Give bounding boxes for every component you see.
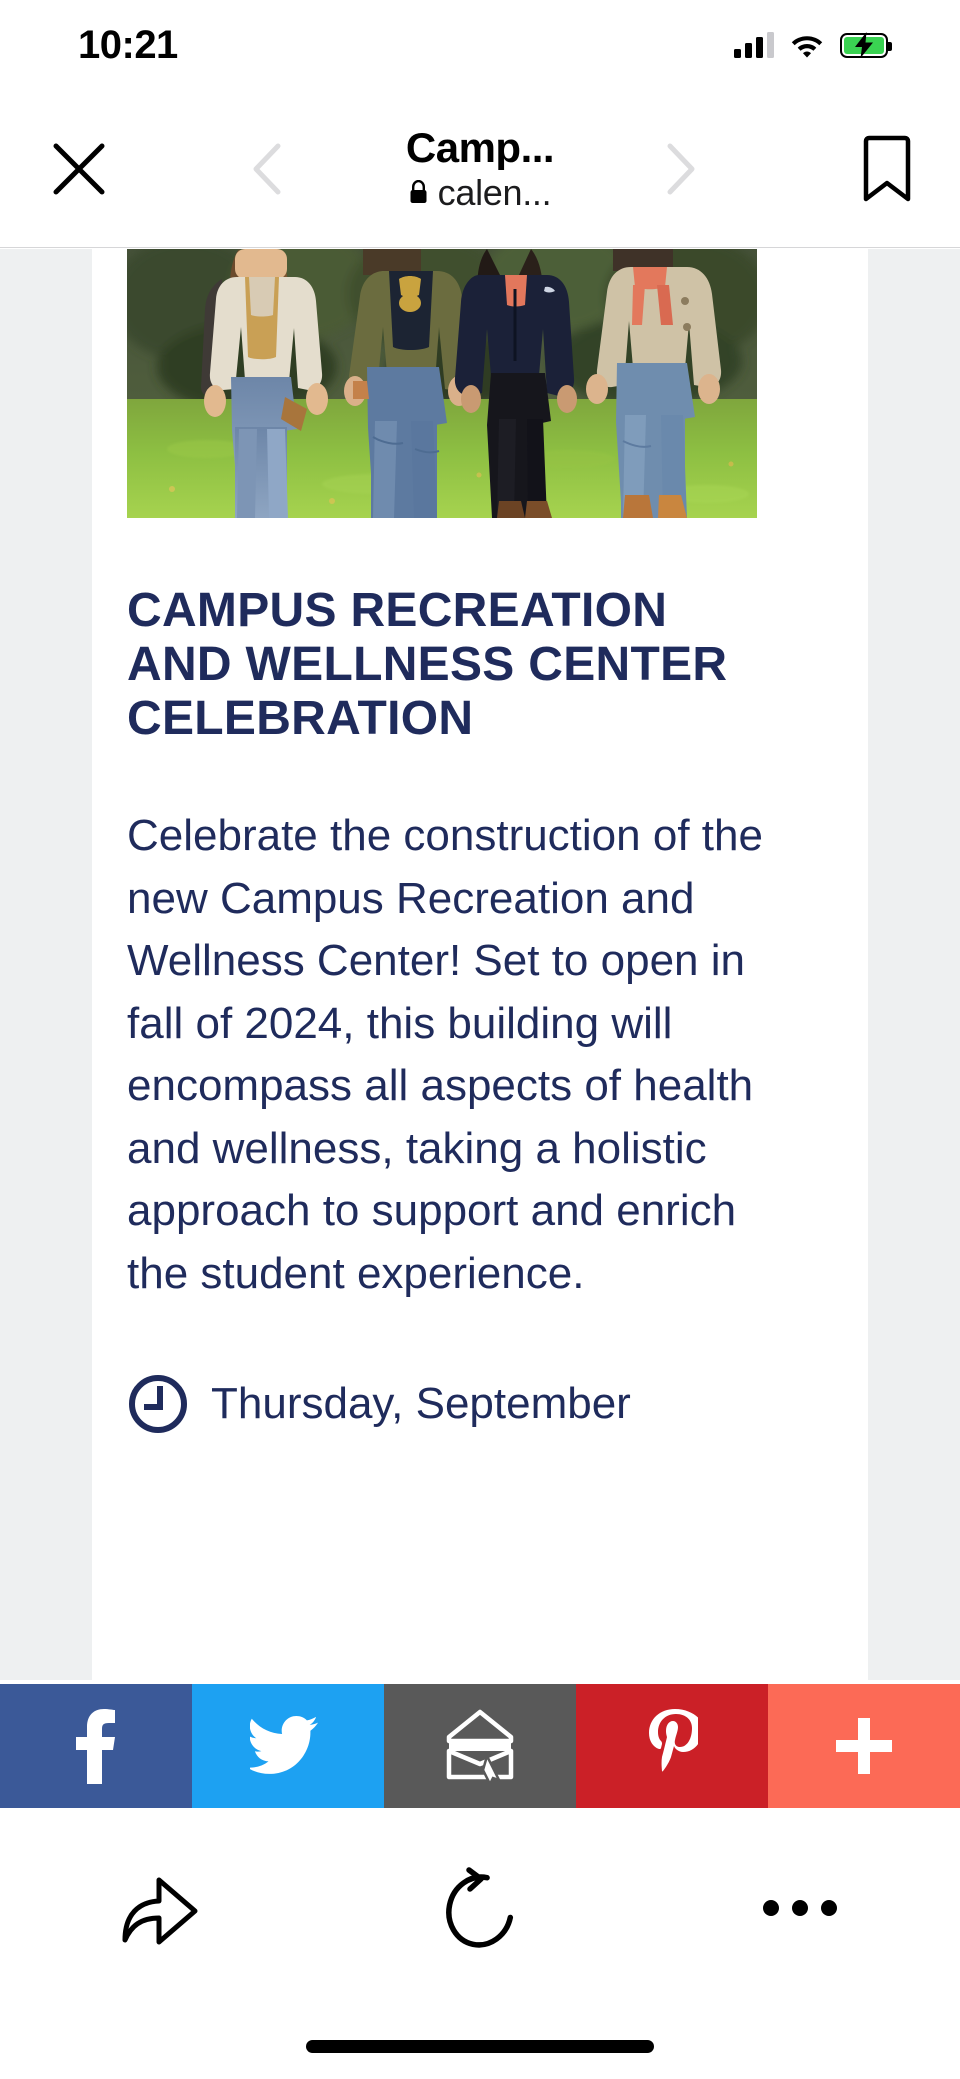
status-indicators [734, 32, 888, 58]
facebook-icon [73, 1708, 119, 1784]
page-url: calen... [438, 174, 552, 212]
browser-screen: 10:21 [0, 0, 960, 2079]
close-icon[interactable] [48, 138, 110, 200]
chevron-right-icon[interactable] [660, 138, 700, 200]
envelope-icon [443, 1708, 517, 1784]
share-twitter-button[interactable] [192, 1684, 384, 1808]
address-title-block[interactable]: Camp... calen... [330, 126, 630, 212]
clock-icon [127, 1373, 189, 1435]
plus-icon [832, 1714, 896, 1778]
navigation-bar: Camp... calen... [0, 90, 960, 248]
share-email-button[interactable] [384, 1684, 576, 1808]
more-dots-icon [763, 1900, 837, 1916]
lock-icon [409, 181, 428, 205]
cellular-signal-icon [734, 32, 774, 58]
article-headline: CAMPUS RECREATION AND WELLNESS CENTER CE… [127, 584, 767, 745]
reload-icon [441, 1867, 519, 1949]
share-facebook-button[interactable] [0, 1684, 192, 1808]
article-body: CAMPUS RECREATION AND WELLNESS CENTER CE… [127, 584, 767, 1435]
home-indicator[interactable] [306, 2040, 654, 2053]
share-arrow-icon [117, 1866, 203, 1950]
pinterest-icon [646, 1707, 698, 1785]
event-datetime-row: Thursday, September [127, 1373, 767, 1435]
event-datetime: Thursday, September [211, 1378, 631, 1431]
web-content-viewport[interactable]: CAMPUS RECREATION AND WELLNESS CENTER CE… [0, 249, 960, 1680]
page-url-row: calen... [330, 174, 630, 212]
browser-toolbar [0, 1808, 960, 2008]
hero-image [127, 249, 757, 518]
wifi-icon [790, 32, 824, 58]
status-bar: 10:21 [0, 0, 960, 90]
article-card: CAMPUS RECREATION AND WELLNESS CENTER CE… [92, 249, 868, 1680]
share-more-button[interactable] [768, 1684, 960, 1808]
reload-button[interactable] [320, 1867, 640, 1949]
share-pinterest-button[interactable] [576, 1684, 768, 1808]
chevron-left-icon[interactable] [248, 138, 288, 200]
bookmark-icon[interactable] [862, 135, 912, 203]
status-time: 10:21 [78, 23, 178, 68]
battery-charging-icon [840, 33, 888, 58]
twitter-icon [250, 1714, 326, 1778]
students-walking-photo [127, 249, 757, 518]
social-share-bar [0, 1684, 960, 1808]
article-paragraph: Celebrate the construction of the new Ca… [127, 805, 767, 1305]
charging-bolt-icon [853, 32, 875, 58]
more-button[interactable] [640, 1900, 960, 1916]
page-title: Camp... [330, 126, 630, 170]
share-button[interactable] [0, 1866, 320, 1950]
home-indicator-area [0, 2008, 960, 2079]
